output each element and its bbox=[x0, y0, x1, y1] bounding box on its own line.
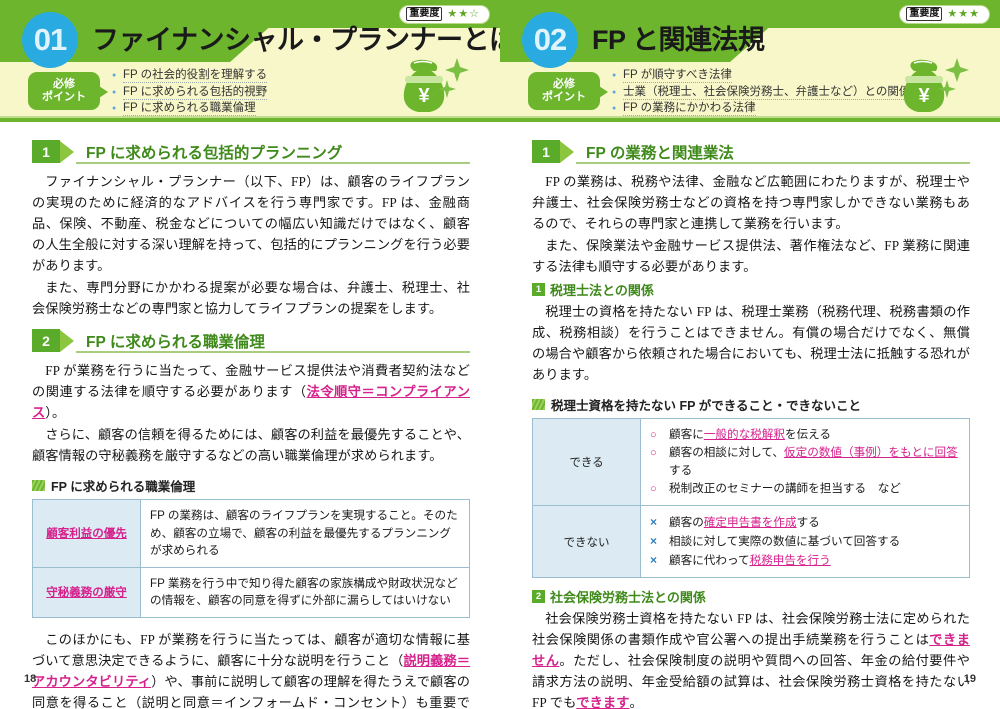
right-page: 重要度 ★★★ 02 FP と関連法規 必修 ポイント FP が順守すべき法律 … bbox=[500, 0, 1000, 709]
subsection-title: 税理士法との関係 bbox=[550, 280, 654, 299]
can-cannot-table: できる ○顧客に一般的な税解釈を伝える ○顧客の相談に対して、仮定の数値（事例）… bbox=[532, 418, 970, 578]
right-page-body: 1 FP の業務と関連業法 FP の業務は、税務や法律、金融など広範囲にわたりま… bbox=[500, 122, 1000, 709]
caption-tile-icon bbox=[32, 480, 45, 491]
section-number: 1 bbox=[532, 140, 560, 163]
point-item: FP の社会的役割を理解する bbox=[112, 67, 267, 84]
can-list: ○顧客に一般的な税解釈を伝える ○顧客の相談に対して、仮定の数値（事例）をもとに… bbox=[650, 426, 960, 498]
list-item: ○顧客に一般的な税解釈を伝える bbox=[650, 426, 960, 444]
money-bag-icon: ¥ bbox=[390, 56, 474, 118]
must-point-badge-right: 必修 ポイント bbox=[528, 72, 600, 110]
svg-text:¥: ¥ bbox=[418, 85, 430, 107]
subsection-title: 社会保険労務士法との関係 bbox=[550, 587, 706, 606]
cross-mark-icon: × bbox=[650, 551, 661, 569]
ethics-table: 顧客利益の優先 FP の業務は、顧客のライフプランを実現すること。そのため、顧客… bbox=[32, 499, 470, 618]
importance-stars: ★★★ bbox=[947, 8, 980, 20]
money-bag-icon: ¥ bbox=[890, 56, 974, 118]
point-item: FP に求められる職業倫理 bbox=[112, 100, 267, 117]
cross-mark-icon: × bbox=[650, 532, 661, 550]
section-header-1-left: 1 FP に求められる包括的プランニング bbox=[32, 140, 470, 163]
book-spread: 重要度 ★★☆ 01 ファイナンシャル・プランナーとは 必修 ポイント FP の… bbox=[0, 0, 1000, 709]
circle-mark-icon: ○ bbox=[650, 426, 661, 444]
table-row-label: 顧客利益の優先 bbox=[33, 500, 141, 568]
cannot-list: ×顧客の確定申告書を作成する ×相談に対して実際の数値に基づいて回答する ×顧客… bbox=[650, 513, 960, 570]
table-caption-left: FP に求められる職業倫理 bbox=[32, 476, 470, 495]
left-page: 重要度 ★★☆ 01 ファイナンシャル・プランナーとは 必修 ポイント FP の… bbox=[0, 0, 500, 709]
paragraph: さらに、顧客の信頼を得るためには、顧客の利益を最優先することや、顧客情報の守秘義… bbox=[32, 424, 470, 466]
must-badge-line1: 必修 bbox=[53, 78, 75, 91]
chapter-number-badge-left: 01 bbox=[22, 12, 78, 68]
must-point-badge-left: 必修 ポイント bbox=[28, 72, 100, 110]
chapter-number-badge-right: 02 bbox=[522, 12, 578, 68]
caption-text: FP に求められる職業倫理 bbox=[51, 476, 195, 495]
left-page-body: 1 FP に求められる包括的プランニング ファイナンシャル・プランナー（以下、F… bbox=[0, 122, 500, 709]
section-chevron-icon bbox=[60, 141, 74, 163]
section-number: 2 bbox=[32, 329, 60, 352]
paragraph: また、保険業法や金融サービス提供法、著作権法など、FP 業務に関連する法律も順守… bbox=[532, 235, 970, 277]
closing-paragraph: このほかにも、FP が業務を行うに当たっては、顧客が適切な情報に基づいて意思決定… bbox=[32, 629, 470, 709]
table-row: できる ○顧客に一般的な税解釈を伝える ○顧客の相談に対して、仮定の数値（事例）… bbox=[533, 419, 970, 506]
paragraph-compliance: FP が業務を行うに当たって、金融サービス提供法や消費者契約法などの関連する法律… bbox=[32, 360, 470, 423]
page-number-right: 19 bbox=[964, 673, 976, 685]
subsection-header-2: 2 社会保険労務士法との関係 bbox=[532, 587, 970, 606]
section-title: FP に求められる包括的プランニング bbox=[86, 141, 342, 163]
list-item: ○税制改正のセミナーの講師を担当する など bbox=[650, 480, 960, 498]
paragraph: FP の業務は、税務や法律、金融など広範囲にわたりますが、税理士や弁護士、社会保… bbox=[532, 171, 970, 234]
page-title-right: FP と関連法規 bbox=[592, 18, 765, 57]
cross-mark-icon: × bbox=[650, 513, 661, 531]
table-row-label: 守秘義務の厳守 bbox=[33, 567, 141, 617]
point-item: 士業（税理士、社会保険労務士、弁護士など）との関係 bbox=[612, 84, 910, 101]
circle-mark-icon: ○ bbox=[650, 444, 661, 462]
page-number-left: 18 bbox=[24, 673, 36, 685]
table-row-value: FP の業務は、顧客のライフプランを実現すること。そのため、顧客の立場で、顧客の… bbox=[141, 500, 470, 568]
must-badge-line2: ポイント bbox=[542, 91, 586, 104]
section-chevron-icon bbox=[60, 330, 74, 352]
importance-stars: ★★☆ bbox=[447, 8, 480, 20]
point-list-left: FP の社会的役割を理解する FP に求められる包括的視野 FP に求められる職… bbox=[112, 67, 267, 117]
table-row-value: FP 業務を行う中で知り得た顧客の家族構成や財政状況などの情報を、顧客の同意を得… bbox=[141, 567, 470, 617]
left-page-header: 重要度 ★★☆ 01 ファイナンシャル・プランナーとは 必修 ポイント FP の… bbox=[0, 0, 500, 122]
list-item: ×顧客に代わって税務申告を行う bbox=[650, 551, 960, 570]
table-caption-right: 税理士資格を持たない FP ができること・できないこと bbox=[532, 395, 970, 414]
section-header-1-right: 1 FP の業務と関連業法 bbox=[532, 140, 970, 163]
list-item: ×顧客の確定申告書を作成する bbox=[650, 513, 960, 532]
paragraph: ファイナンシャル・プランナー（以下、FP）は、顧客のライフプランの実現のために経… bbox=[32, 171, 470, 276]
paragraph-sharoushi: 社会保険労務士資格を持たない FP は、社会保険労務士法に定められた社会保険関係… bbox=[532, 608, 970, 709]
table-row-label: できる bbox=[533, 419, 641, 506]
subsection-header-1: 1 税理士法との関係 bbox=[532, 280, 970, 299]
caption-tile-icon bbox=[532, 399, 545, 410]
list-item: ×相談に対して実際の数値に基づいて回答する bbox=[650, 532, 960, 551]
section-title: FP に求められる職業倫理 bbox=[86, 330, 265, 352]
list-item: ○顧客の相談に対して、仮定の数値（事例）をもとに回答する bbox=[650, 444, 960, 480]
table-row: 顧客利益の優先 FP の業務は、顧客のライフプランを実現すること。そのため、顧客… bbox=[33, 500, 470, 568]
point-item: FP に求められる包括的視野 bbox=[112, 84, 267, 101]
importance-label: 重要度 bbox=[906, 7, 942, 21]
importance-badge-left: 重要度 ★★☆ bbox=[399, 5, 490, 24]
section-number: 1 bbox=[32, 140, 60, 163]
point-list-right: FP が順守すべき法律 士業（税理士、社会保険労務士、弁護士など）との関係 FP… bbox=[612, 67, 910, 117]
point-item: FP が順守すべき法律 bbox=[612, 67, 910, 84]
must-badge-line2: ポイント bbox=[42, 91, 86, 104]
paragraph: 税理士の資格を持たない FP は、税理士業務（税務代理、税務書類の作成、税務相談… bbox=[532, 301, 970, 385]
table-row-value: ○顧客に一般的な税解釈を伝える ○顧客の相談に対して、仮定の数値（事例）をもとに… bbox=[641, 419, 970, 506]
svg-text:¥: ¥ bbox=[918, 85, 930, 107]
keyword-can: できます bbox=[576, 695, 629, 709]
table-row-value: ×顧客の確定申告書を作成する ×相談に対して実際の数値に基づいて回答する ×顧客… bbox=[641, 506, 970, 578]
section-header-2-left: 2 FP に求められる職業倫理 bbox=[32, 329, 470, 352]
section-chevron-icon bbox=[560, 141, 574, 163]
importance-label: 重要度 bbox=[406, 7, 442, 21]
caption-text: 税理士資格を持たない FP ができること・できないこと bbox=[551, 395, 861, 414]
subsection-number: 2 bbox=[532, 590, 545, 603]
right-page-header: 重要度 ★★★ 02 FP と関連法規 必修 ポイント FP が順守すべき法律 … bbox=[500, 0, 1000, 122]
table-row: 守秘義務の厳守 FP 業務を行う中で知り得た顧客の家族構成や財政状況などの情報を… bbox=[33, 567, 470, 617]
section-title: FP の業務と関連業法 bbox=[586, 141, 734, 163]
importance-badge-right: 重要度 ★★★ bbox=[899, 5, 990, 24]
circle-mark-icon: ○ bbox=[650, 480, 661, 498]
paragraph: また、専門分野にかかわる提案が必要な場合は、弁護士、税理士、社会保険労務士などの… bbox=[32, 277, 470, 319]
table-row-label: できない bbox=[533, 506, 641, 578]
point-item: FP の業務にかかわる法律 bbox=[612, 100, 910, 117]
must-badge-line1: 必修 bbox=[553, 78, 575, 91]
subsection-number: 1 bbox=[532, 283, 545, 296]
table-row: できない ×顧客の確定申告書を作成する ×相談に対して実際の数値に基づいて回答す… bbox=[533, 506, 970, 578]
